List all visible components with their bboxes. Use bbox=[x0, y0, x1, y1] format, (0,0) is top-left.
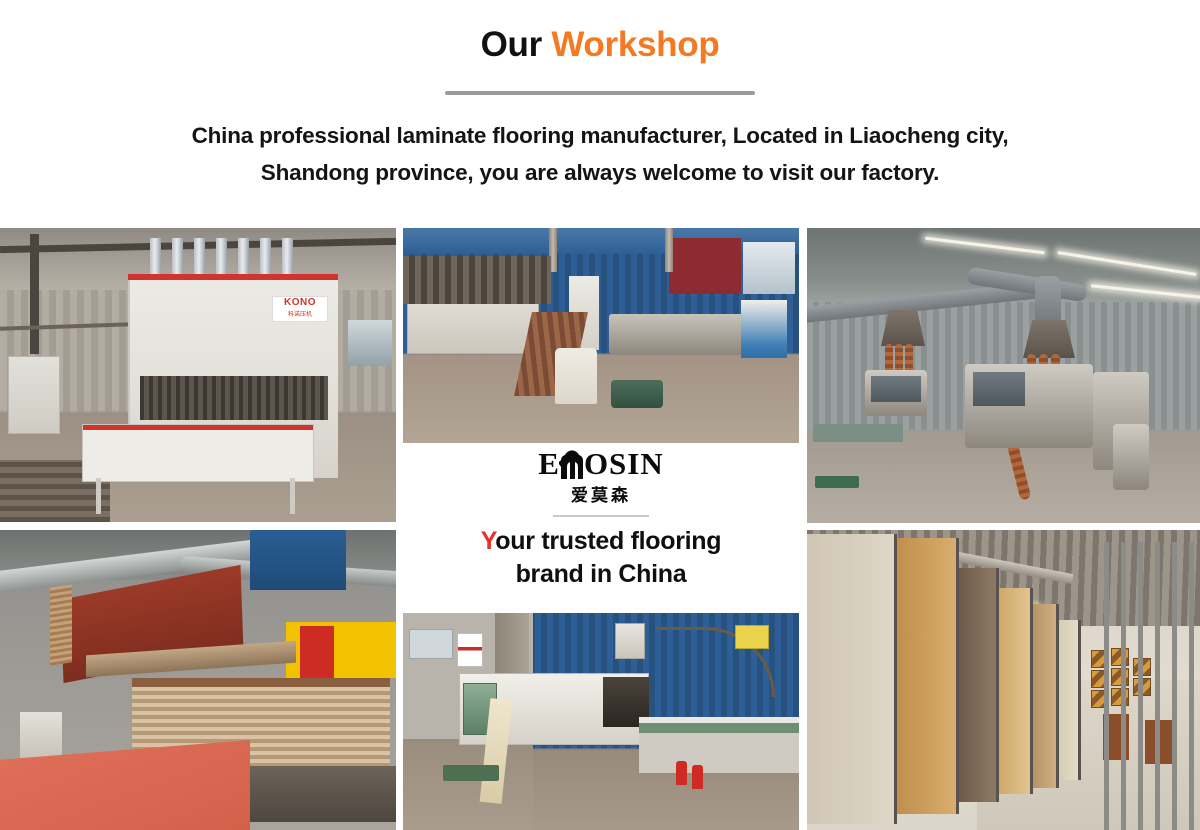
tagline-line-1: Your trusted flooring bbox=[481, 525, 721, 558]
photo-packing-line[interactable] bbox=[403, 613, 799, 830]
gorilla-icon bbox=[559, 449, 585, 479]
tagline-initial: Y bbox=[481, 527, 496, 555]
brand-divider bbox=[553, 515, 649, 517]
brand-tagline: Your trusted flooring brand in China bbox=[481, 525, 721, 590]
page-header: Our Workshop China professional laminate… bbox=[0, 0, 1200, 191]
photo-hot-press[interactable]: KONO 科诺压机 bbox=[0, 228, 396, 522]
logo-prefix: E bbox=[538, 449, 560, 479]
photo-showroom[interactable] bbox=[807, 530, 1200, 830]
gallery-column-right bbox=[807, 228, 1200, 830]
kono-label-cn: 科诺压机 bbox=[273, 309, 327, 318]
page-title: Our Workshop bbox=[0, 26, 1200, 65]
tagline-rest: our trusted flooring bbox=[495, 527, 721, 555]
photo-production-line[interactable] bbox=[403, 228, 799, 443]
brand-card: E OSIN 爱莫森 Your trusted flooring brand i… bbox=[403, 443, 799, 613]
page-title-plain: Our bbox=[481, 25, 552, 64]
kono-machine-label: KONO 科诺压机 bbox=[272, 296, 328, 322]
title-divider bbox=[445, 91, 755, 95]
workshop-page: Our Workshop China professional laminate… bbox=[0, 0, 1200, 830]
photo-board-stacks[interactable] bbox=[0, 530, 396, 830]
tagline-line-2: brand in China bbox=[481, 558, 721, 591]
gallery-column-left: KONO 科诺压机 bbox=[0, 228, 396, 830]
page-subtitle: China professional laminate flooring man… bbox=[0, 117, 1200, 191]
subtitle-line-1: China professional laminate flooring man… bbox=[0, 117, 1200, 154]
logo-suffix: OSIN bbox=[584, 449, 664, 479]
brand-logo: E OSIN bbox=[538, 449, 664, 479]
kono-label-text: KONO bbox=[273, 297, 327, 309]
page-title-accent: Workshop bbox=[551, 25, 719, 64]
subtitle-line-2: Shandong province, you are always welcom… bbox=[0, 154, 1200, 191]
brand-chinese-name: 爱莫森 bbox=[571, 481, 631, 506]
photo-dust-extraction[interactable] bbox=[807, 228, 1200, 523]
